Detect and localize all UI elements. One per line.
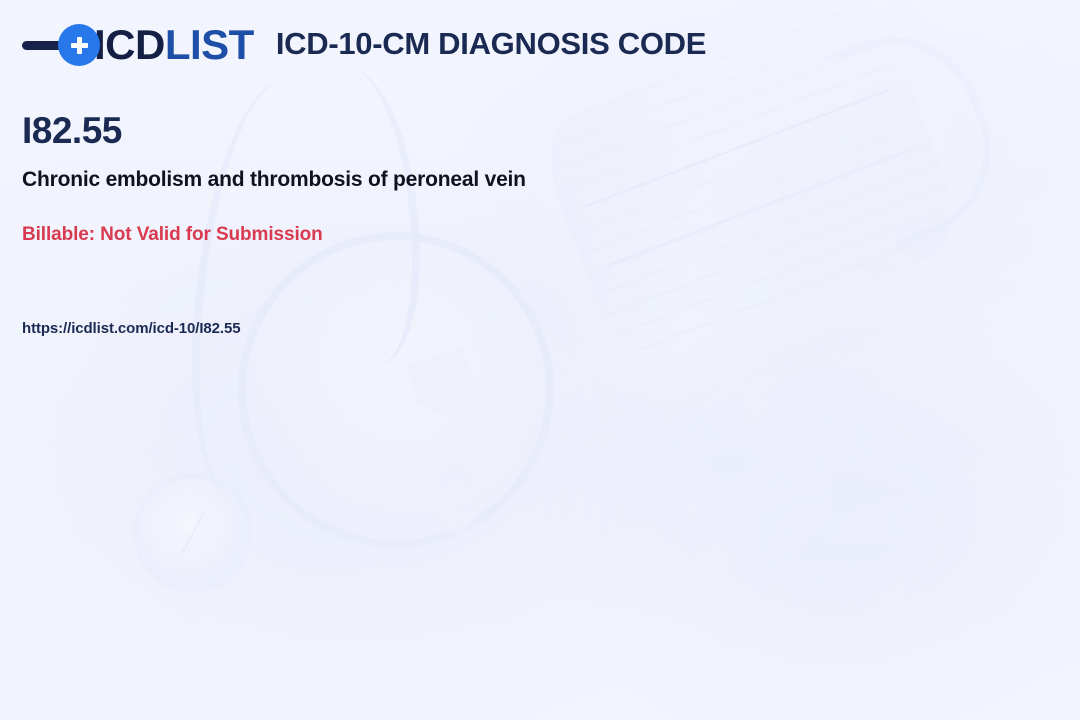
page-header: ICDLIST ICD-10-CM DIAGNOSIS CODE bbox=[22, 24, 706, 66]
logo-wordmark: ICDLIST bbox=[94, 24, 254, 66]
finger bbox=[647, 384, 773, 471]
billable-status: Billable: Not Valid for Submission bbox=[22, 224, 323, 247]
logo-word-icd: ICD bbox=[94, 21, 165, 68]
finger bbox=[782, 413, 915, 483]
background-wash bbox=[0, 0, 1080, 720]
background-photo bbox=[0, 0, 1080, 720]
paper-heart-small-lower bbox=[421, 465, 489, 535]
finger bbox=[785, 560, 907, 606]
heart-icon bbox=[406, 347, 482, 425]
mask-ear-strap bbox=[821, 11, 1017, 249]
finger bbox=[810, 495, 945, 549]
page-title: ICD-10-CM DIAGNOSIS CODE bbox=[276, 26, 706, 64]
paper-heart-small-upper bbox=[406, 347, 482, 425]
stethoscope-chestpiece bbox=[138, 478, 248, 588]
stethoscope-cord-right bbox=[292, 63, 426, 369]
icdlist-logo[interactable]: ICDLIST bbox=[22, 24, 254, 66]
source-url[interactable]: https://icdlist.com/icd-10/I82.55 bbox=[22, 320, 240, 337]
hand-image bbox=[636, 404, 966, 654]
diagnosis-code: I82.55 bbox=[22, 112, 122, 149]
screenshot-canvas: ICDLIST ICD-10-CM DIAGNOSIS CODE I82.55 … bbox=[0, 0, 1080, 720]
heart-icon bbox=[421, 465, 489, 535]
paper-heart-large bbox=[680, 423, 840, 591]
stethoscope-loop bbox=[238, 232, 554, 548]
stethoscope-cord-left bbox=[182, 74, 339, 502]
medical-plus-icon bbox=[58, 24, 100, 66]
heart-icon bbox=[680, 423, 840, 591]
logo-word-list: LIST bbox=[165, 21, 254, 68]
background-veil bbox=[0, 0, 1080, 720]
diagnosis-description: Chronic embolism and thrombosis of peron… bbox=[22, 167, 526, 192]
